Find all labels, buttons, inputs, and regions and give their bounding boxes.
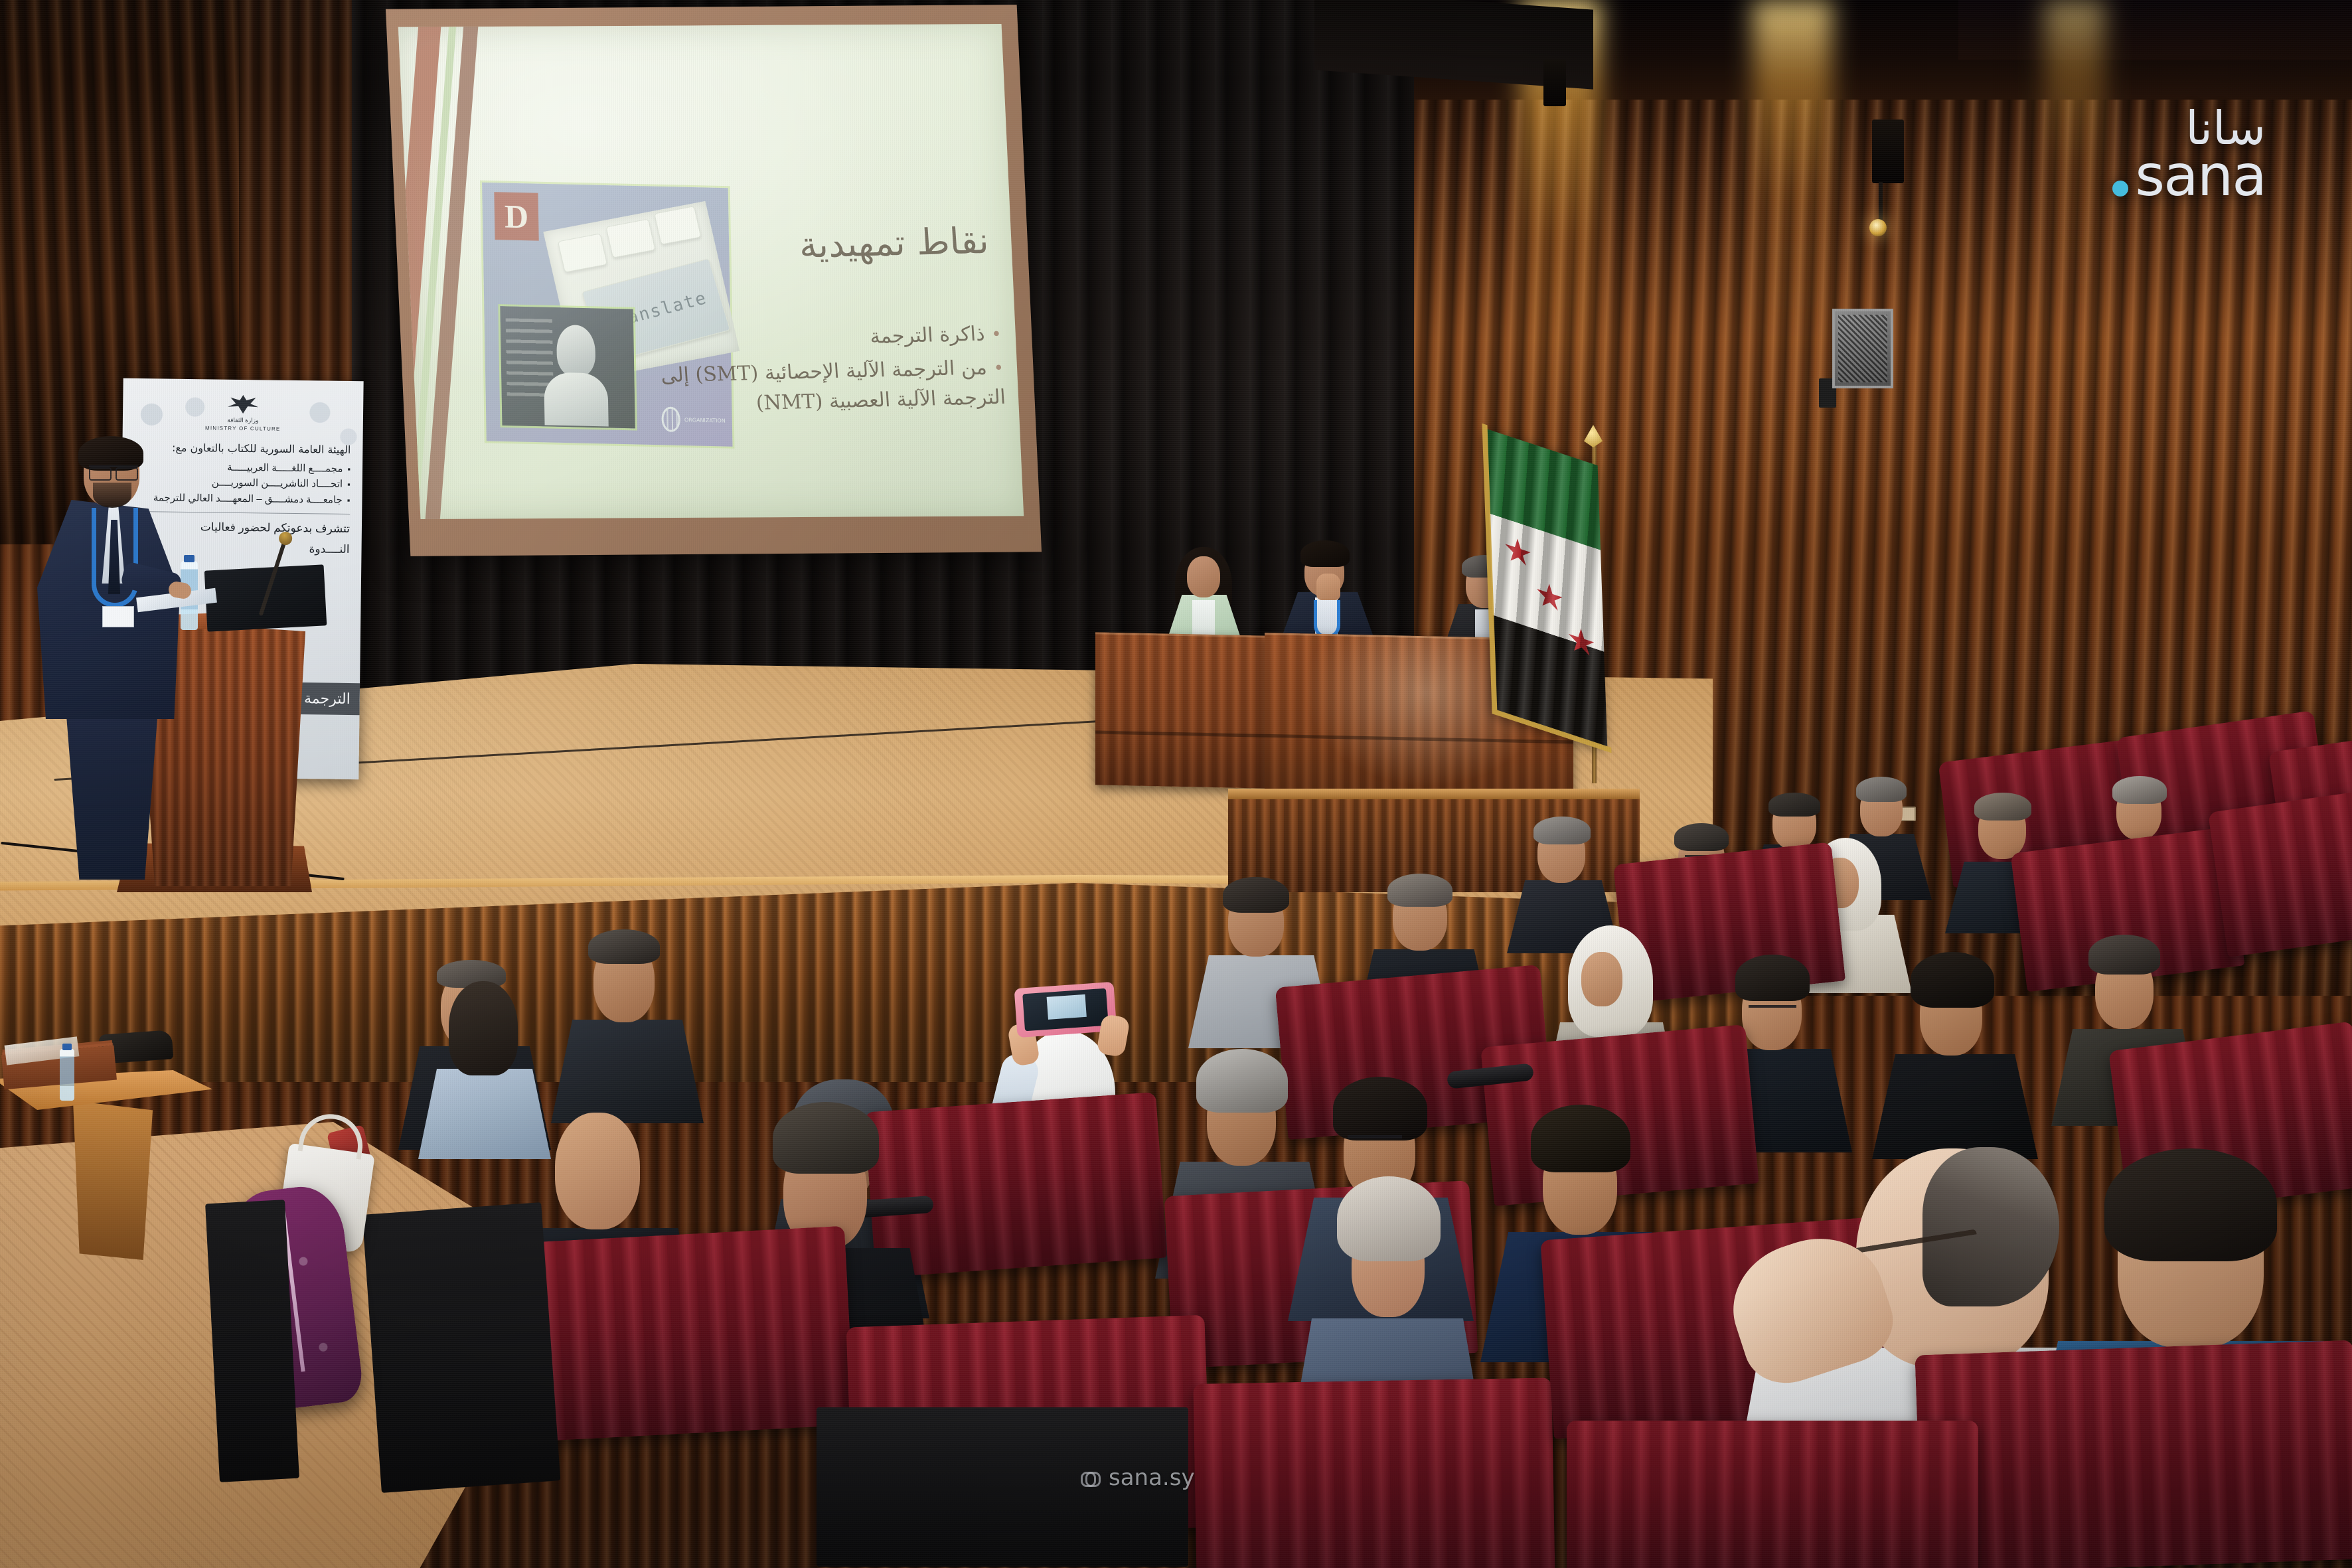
wall-light-glow — [2045, 0, 2104, 425]
seat-shell — [362, 1202, 561, 1493]
robot-head — [556, 325, 595, 377]
person-hair — [1735, 955, 1810, 1001]
keyboard-key — [558, 233, 607, 272]
projection-screen: D Translate ORGANIZATION نقاط تمهيدية ذا… — [398, 24, 1024, 519]
seat-shell — [205, 1200, 299, 1482]
speaker-lanyard — [92, 508, 138, 607]
person-hair — [588, 929, 660, 964]
slide-title: نقاط تمهيدية — [642, 220, 990, 270]
slide-bullet-list: ذاكرة الترجمة من الترجمة الآلية الإحصائي… — [602, 319, 1006, 426]
podium-speaker — [37, 441, 190, 880]
glasses-icon — [1348, 1135, 1402, 1148]
flag-fringe — [1482, 424, 1612, 753]
panelist-lanyard — [1314, 600, 1340, 639]
person-hair — [449, 981, 518, 1075]
watermark-text: sana.sy — [1109, 1464, 1195, 1491]
speaker-legs — [54, 707, 167, 880]
glasses-icon — [89, 465, 138, 477]
wall-light-glow — [1753, 0, 1832, 505]
photograph: D Translate ORGANIZATION نقاط تمهيدية ذا… — [0, 0, 2352, 1568]
person-head — [555, 1113, 640, 1229]
bottle-cap — [62, 1044, 72, 1050]
water-bottle — [60, 1049, 74, 1101]
phone-screen — [1022, 988, 1109, 1032]
glasses-icon — [1749, 1005, 1796, 1017]
link-icon — [1081, 1472, 1101, 1484]
person-hair — [2088, 935, 2160, 975]
sana-logo-latin: sana — [2135, 151, 2266, 202]
person-hair — [1531, 1105, 1630, 1172]
person-hair — [1533, 817, 1591, 844]
speaker-grille — [1838, 315, 1887, 382]
ceiling-corner — [1958, 0, 2352, 60]
panelist-hands — [1316, 574, 1340, 600]
panelist-center — [1278, 543, 1377, 646]
person-hair — [1768, 793, 1820, 817]
speaker-badge — [102, 606, 134, 627]
spotlight-lens — [1869, 219, 1887, 236]
panel-table-left — [1095, 632, 1265, 788]
person-head — [1581, 952, 1622, 1006]
slide-bullet: من الترجمة الآلية الإحصائية (SMT) إلى ال… — [605, 353, 1007, 422]
sana-logo: سانا sana — [2112, 106, 2266, 202]
panelist-hair — [1300, 540, 1350, 567]
audience-member — [1872, 949, 2038, 1155]
collage-logo-letter: D — [494, 192, 538, 240]
speaker-beard — [93, 483, 131, 508]
person-hair — [1856, 777, 1907, 802]
pa-speaker — [1832, 309, 1893, 388]
person-hair — [2112, 776, 2167, 804]
panelist-head — [1187, 556, 1220, 597]
spotlight — [1543, 60, 1566, 106]
side-table-leg — [73, 1101, 153, 1260]
sana-logo-dot — [2112, 181, 2128, 196]
theater-seat[interactable] — [1915, 1340, 2352, 1568]
person-hair — [2104, 1148, 2277, 1261]
panelist-left — [1160, 551, 1247, 644]
watermark: sana.sy — [1081, 1464, 1195, 1491]
robot-body — [544, 372, 609, 426]
person-hair — [773, 1102, 879, 1174]
person-hair — [1223, 877, 1289, 913]
eagle-emblem-icon — [226, 393, 260, 416]
person-hair — [1674, 823, 1729, 851]
person-hair — [1337, 1176, 1441, 1261]
phone-preview — [1047, 994, 1087, 1020]
sana-logo-latin-row: sana — [2112, 151, 2266, 202]
balcony-railing — [1228, 789, 1640, 799]
person-hair — [1911, 952, 1994, 1008]
theater-seat[interactable] — [1193, 1377, 1555, 1568]
person-hair — [1387, 874, 1452, 907]
theater-seat[interactable] — [2208, 789, 2352, 957]
spotlight — [1872, 119, 1904, 183]
person-hair — [1333, 1077, 1427, 1140]
person-hair — [1974, 793, 2031, 821]
theater-seat[interactable] — [1567, 1421, 1978, 1568]
person-hair — [1196, 1049, 1288, 1113]
